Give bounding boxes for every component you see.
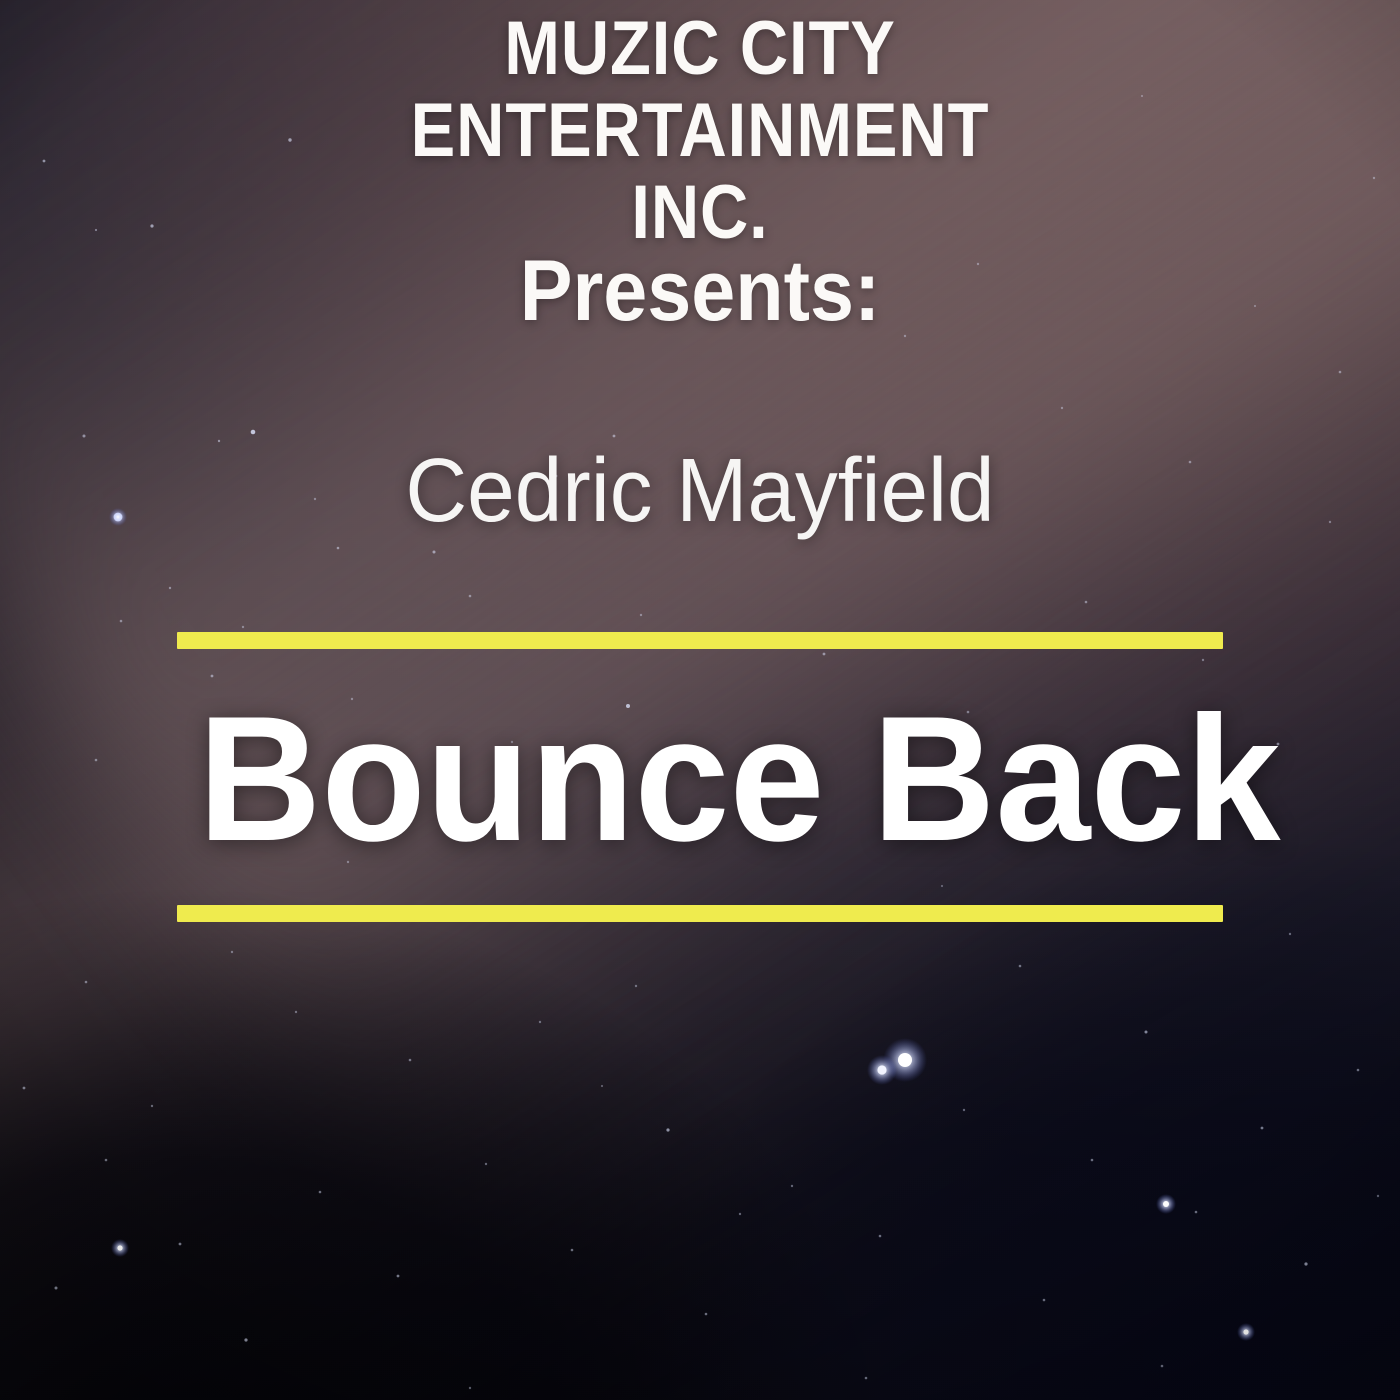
accent-rule-bottom [177, 905, 1223, 922]
company-name-line-2: ENTERTAINMENT [242, 90, 1157, 172]
song-title: Bounce Back [198, 683, 1202, 875]
accent-rule-top [177, 632, 1223, 649]
company-name-line-1: MUZIC CITY [242, 8, 1157, 90]
company-name-line-3: INC. [242, 172, 1157, 254]
album-cover: MUZIC CITY ENTERTAINMENT INC. Presents: … [0, 0, 1400, 1400]
artist-name: Cedric Mayfield [35, 446, 1365, 536]
cover-text-content: MUZIC CITY ENTERTAINMENT INC. Presents: … [0, 0, 1400, 1400]
song-title-group: Bounce Back [177, 632, 1223, 922]
company-name: MUZIC CITY ENTERTAINMENT INC. [84, 8, 1316, 254]
presents-label: Presents: [56, 248, 1344, 334]
